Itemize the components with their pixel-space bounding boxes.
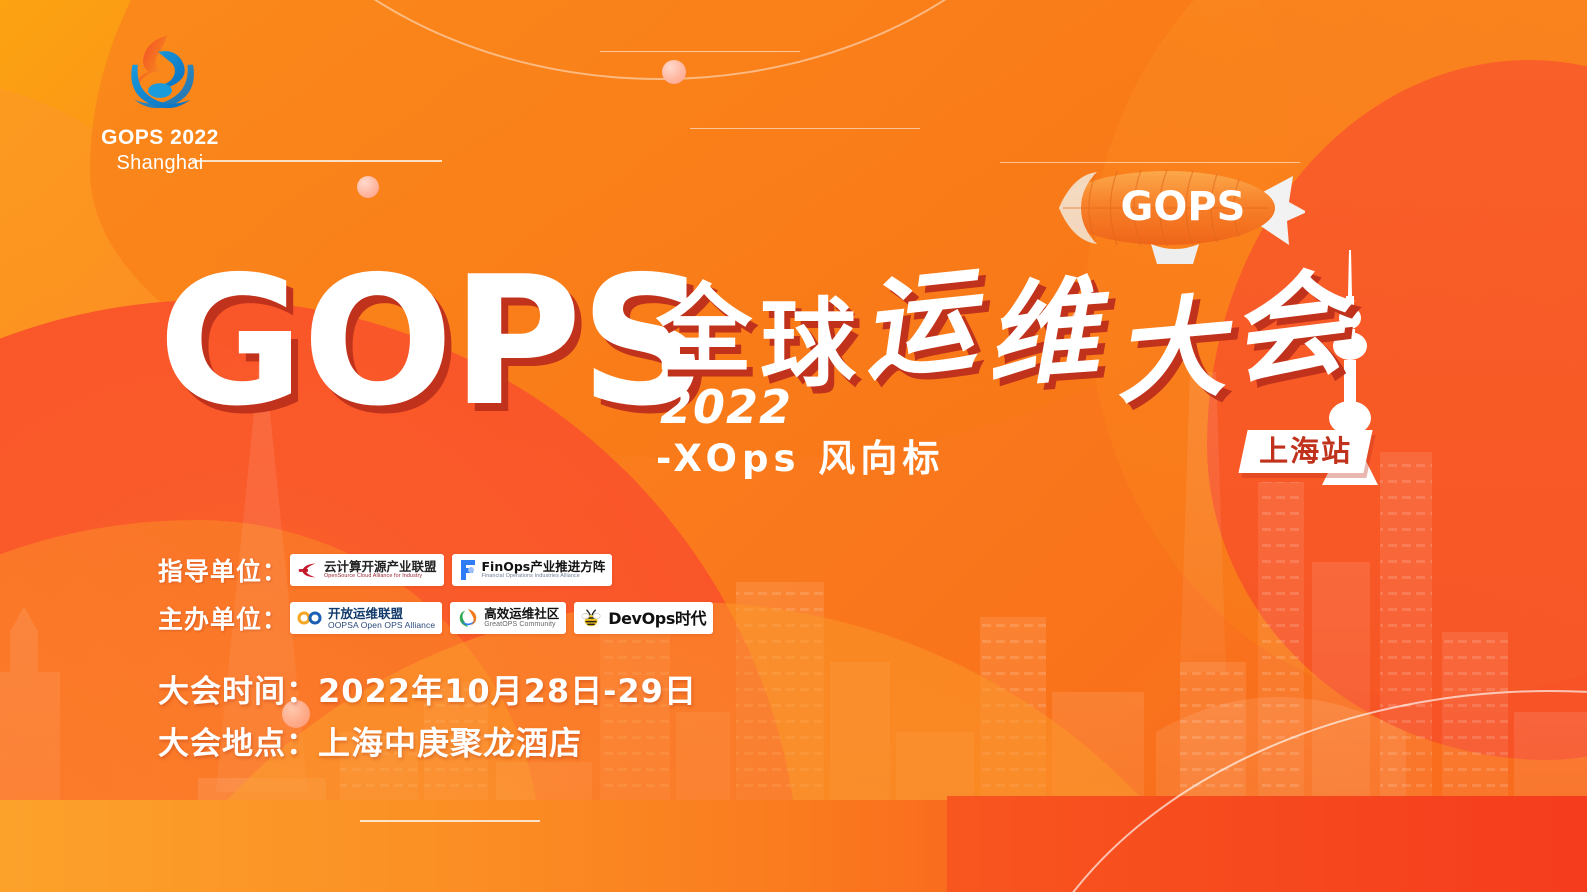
bee-icon [581, 607, 603, 629]
sponsor-name-en: GreatOPS Community [484, 620, 559, 629]
sponsor-logo-oopsa-open-ops-alliance[interactable]: 开放运维联盟 OOPSA Open OPS Alliance [290, 602, 442, 634]
sponsor-row-organizer: 主办单位： 开放运维联盟 OOPSA Open OPS Alliance [158, 600, 721, 636]
city-badge-label: 上海站 [1259, 436, 1352, 466]
decor-arc-top [210, 0, 1110, 80]
sponsor-row-label-guidance: 指导单位： [158, 552, 290, 588]
sponsor-row-label-organizer: 主办单位： [158, 600, 290, 636]
gops-flame-wave-logo-icon [114, 28, 206, 120]
blimp-label: GOPS [1121, 184, 1246, 230]
sponsor-name-cn: FinOps产业推进方阵 [482, 560, 606, 573]
decor-dot-2 [357, 176, 379, 198]
logo-subtitle: Shanghai [55, 152, 265, 175]
cn-char-4: 维 [982, 274, 1102, 394]
logo-title: GOPS 2022 [55, 126, 265, 150]
edition-year: 2022 [660, 380, 792, 434]
decor-line-1 [690, 128, 920, 129]
cn-char-2: 球 [760, 296, 856, 392]
sponsor-name-cn: DevOps时代 [608, 612, 706, 625]
event-date-value: 2022年10月28日-29日 [318, 666, 697, 712]
sponsor-logo-greatops-community[interactable]: 高效运维社区 GreatOPS Community [450, 602, 566, 634]
cn-char-5: 大 [1109, 291, 1228, 410]
cn-char-3: 运 [856, 264, 979, 387]
sponsor-name-en: OOPSA Open OPS Alliance [328, 620, 435, 630]
headline-block: GOPS 全 球 运 维 大 会 2022 -XOps 风向标 [158, 258, 1358, 488]
decor-line-5 [360, 820, 540, 822]
event-venue-label: 大会地点： [158, 718, 318, 763]
conference-banner: GOPS 2022 Shanghai GOPS [0, 0, 1587, 892]
sponsor-logo-finops-industry-alliance[interactable]: FinOps产业推进方阵 Financial Operations Indust… [452, 554, 613, 586]
event-venue-value: 上海中庚聚龙酒店 [318, 718, 582, 764]
cloud-alliance-icon [297, 559, 319, 581]
oopsa-infinity-icon [297, 610, 323, 626]
event-date-label: 大会时间： [158, 666, 318, 711]
sponsor-name-cn: 云计算开源产业联盟 [324, 560, 437, 573]
sponsor-logo-devops-times[interactable]: DevOps时代 [574, 602, 713, 634]
decor-dot-1 [662, 60, 686, 84]
event-venue-line: 大会地点： 上海中庚聚龙酒店 [158, 718, 697, 764]
sponsor-name-cn: 高效运维社区 [484, 607, 559, 620]
sponsors-block: 指导单位： 云计算开源产业联盟 OpenSource Cloud Allianc… [158, 552, 721, 648]
sponsor-logo-cloud-open-source-alliance[interactable]: 云计算开源产业联盟 OpenSource Cloud Alliance for … [290, 554, 444, 586]
sponsor-name-en: OpenSource Cloud Alliance for Industry [324, 573, 437, 580]
brand-wordmark: GOPS [158, 258, 706, 426]
sponsor-name-en: Financial Operations Industries Alliance [482, 573, 606, 580]
greatops-icon [457, 607, 479, 629]
event-info-block: 大会时间： 2022年10月28日-29日 大会地点： 上海中庚聚龙酒店 [158, 666, 697, 770]
finops-icon [459, 558, 477, 582]
cn-char-6: 会 [1223, 265, 1350, 392]
event-date-line: 大会时间： 2022年10月28日-29日 [158, 666, 697, 712]
gops-logo-block: GOPS 2022 Shanghai [55, 28, 265, 175]
tagline: -XOps 风向标 [656, 428, 944, 482]
city-badge: 上海站 [1238, 430, 1372, 473]
sponsor-row-guidance: 指导单位： 云计算开源产业联盟 OpenSource Cloud Allianc… [158, 552, 721, 588]
cn-char-1: 全 [656, 282, 752, 378]
sponsor-name-cn: 开放运维联盟 [328, 607, 435, 620]
